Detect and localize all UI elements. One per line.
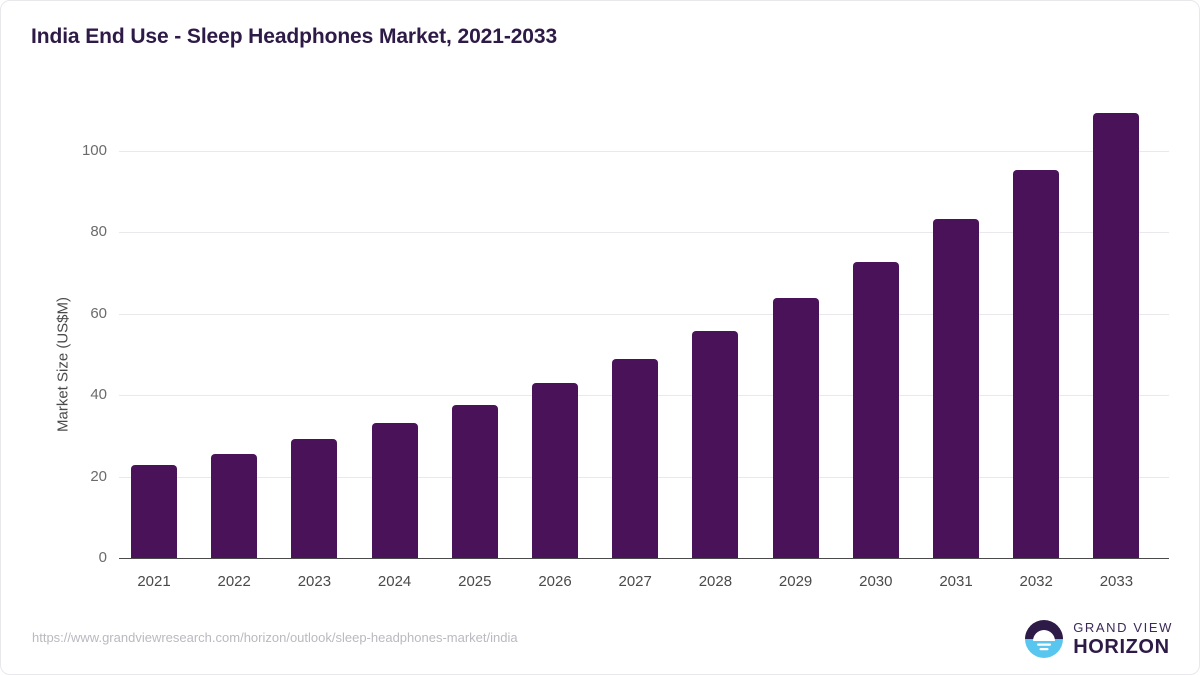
chart-page: India End Use - Sleep Headphones Market,… xyxy=(0,0,1200,675)
y-tick-label-60: 60 xyxy=(17,305,107,322)
gridline-60 xyxy=(119,314,1169,315)
logo-line-1: GRAND VIEW xyxy=(1073,621,1173,634)
bar-2031[interactable] xyxy=(933,219,979,558)
x-tick-label-2031: 2031 xyxy=(911,573,1001,590)
logo-line-2: HORIZON xyxy=(1073,637,1173,657)
y-tick-label-40: 40 xyxy=(17,386,107,403)
bar-2032[interactable] xyxy=(1013,170,1059,558)
bar-chart: Market Size (US$M) 020406080100 20212022… xyxy=(1,1,1200,611)
x-tick-label-2030: 2030 xyxy=(831,573,921,590)
bar-2021[interactable] xyxy=(131,465,177,558)
y-tick-label-80: 80 xyxy=(17,223,107,240)
y-tick-label-100: 100 xyxy=(17,142,107,159)
brand-logo: GRAND VIEW HORIZON xyxy=(1024,619,1173,659)
x-tick-label-2027: 2027 xyxy=(590,573,680,590)
x-tick-label-2024: 2024 xyxy=(350,573,440,590)
grand-view-horizon-logo-mark-icon xyxy=(1024,619,1064,659)
logo-wordmark: GRAND VIEW HORIZON xyxy=(1073,621,1173,657)
x-tick-label-2028: 2028 xyxy=(670,573,760,590)
plot-area: 020406080100 202120222023202420252026202… xyxy=(119,101,1169,558)
bar-2028[interactable] xyxy=(692,331,738,558)
x-tick-label-2026: 2026 xyxy=(510,573,600,590)
y-tick-label-20: 20 xyxy=(17,468,107,485)
bar-2026[interactable] xyxy=(532,383,578,558)
x-tick-label-2025: 2025 xyxy=(430,573,520,590)
bar-2022[interactable] xyxy=(211,454,257,558)
gridline-0 xyxy=(119,558,1169,559)
x-tick-label-2022: 2022 xyxy=(189,573,279,590)
x-tick-label-2032: 2032 xyxy=(991,573,1081,590)
x-tick-label-2021: 2021 xyxy=(109,573,199,590)
bar-2033[interactable] xyxy=(1093,113,1139,558)
bar-2023[interactable] xyxy=(291,439,337,558)
bar-2027[interactable] xyxy=(612,359,658,558)
x-tick-label-2023: 2023 xyxy=(269,573,359,590)
gridline-80 xyxy=(119,232,1169,233)
bar-2029[interactable] xyxy=(773,298,819,558)
y-axis-title: Market Size (US$M) xyxy=(55,245,72,485)
bar-2025[interactable] xyxy=(452,405,498,558)
gridline-100 xyxy=(119,151,1169,152)
y-tick-label-0: 0 xyxy=(17,549,107,566)
source-url[interactable]: https://www.grandviewresearch.com/horizo… xyxy=(32,630,518,645)
x-tick-label-2029: 2029 xyxy=(751,573,841,590)
bar-2030[interactable] xyxy=(853,262,899,558)
x-tick-label-2033: 2033 xyxy=(1071,573,1161,590)
bar-2024[interactable] xyxy=(372,423,418,558)
